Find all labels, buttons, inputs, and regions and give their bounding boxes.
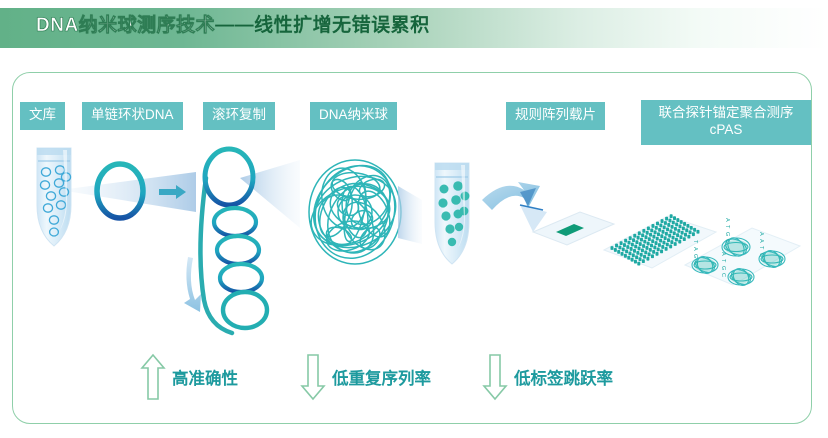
- svg-text:G: G: [720, 266, 726, 271]
- svg-text:A: A: [758, 239, 764, 243]
- svg-text:G: G: [692, 254, 698, 259]
- stage-label-text: 单链环状DNA: [91, 107, 174, 122]
- svg-text:T: T: [720, 259, 726, 263]
- arrow-down-outline-icon: [482, 352, 508, 402]
- stage-label-text: 滚环复制: [212, 107, 266, 122]
- benefit-label: 低重复序列率: [332, 365, 431, 389]
- stage-label-text: 文库: [29, 107, 56, 122]
- svg-text:C: C: [724, 239, 730, 243]
- sample-tube-with-nanoballs: [435, 163, 470, 264]
- beam-nanoball-to-tube: [398, 186, 422, 244]
- stage-label-single-stranded-circular-dna[interactable]: 单链环状DNA: [82, 102, 183, 130]
- stage-label-text: 联合探针锚定聚合测序: [659, 105, 794, 120]
- replication-direction-arrow-icon: [184, 257, 201, 312]
- benefit-low-index-hopping-rate: 低标签跳跃率: [482, 352, 613, 402]
- svg-text:A: A: [692, 247, 698, 251]
- array-slide-chip: [533, 212, 614, 245]
- sample-tube-with-circular-dna: [37, 148, 71, 246]
- stage-label-cpas-sequencing[interactable]: 联合探针锚定聚合测序cPAS: [641, 100, 811, 145]
- svg-text:T: T: [724, 225, 730, 229]
- svg-text:G: G: [758, 253, 764, 258]
- arrow-up-outline-icon: [140, 352, 166, 402]
- svg-text:A: A: [758, 232, 764, 236]
- svg-text:C: C: [720, 273, 726, 277]
- stage-label-dna-nanoball[interactable]: DNA纳米球: [310, 102, 397, 130]
- svg-text:A: A: [724, 218, 730, 222]
- benefit-label: 低标签跳跃率: [514, 365, 613, 389]
- benefit-low-duplication-rate: 低重复序列率: [300, 352, 431, 402]
- stage-label-patterned-array-slide[interactable]: 规则阵列载片: [506, 102, 605, 130]
- svg-text:C: C: [692, 261, 698, 265]
- svg-text:T: T: [692, 240, 698, 244]
- arrow-down-outline-icon: [300, 352, 326, 402]
- loading-curved-arrow-icon: [482, 182, 540, 210]
- stage-label-text: 规则阵列载片: [515, 107, 596, 122]
- svg-text:G: G: [724, 232, 730, 237]
- stage-label-library[interactable]: 文库: [20, 102, 65, 130]
- benefit-high-accuracy: 高准确性: [140, 352, 238, 402]
- dna-nanoball-tangle: [298, 150, 407, 269]
- svg-text:A: A: [720, 252, 726, 256]
- svg-text:T: T: [758, 246, 764, 250]
- stage-label-subtext: cPAS: [710, 122, 743, 137]
- stage-label-rolling-circle-replication[interactable]: 滚环复制: [203, 102, 275, 130]
- benefit-label: 高准确性: [172, 365, 238, 389]
- stage-label-text: DNA纳米球: [319, 107, 388, 122]
